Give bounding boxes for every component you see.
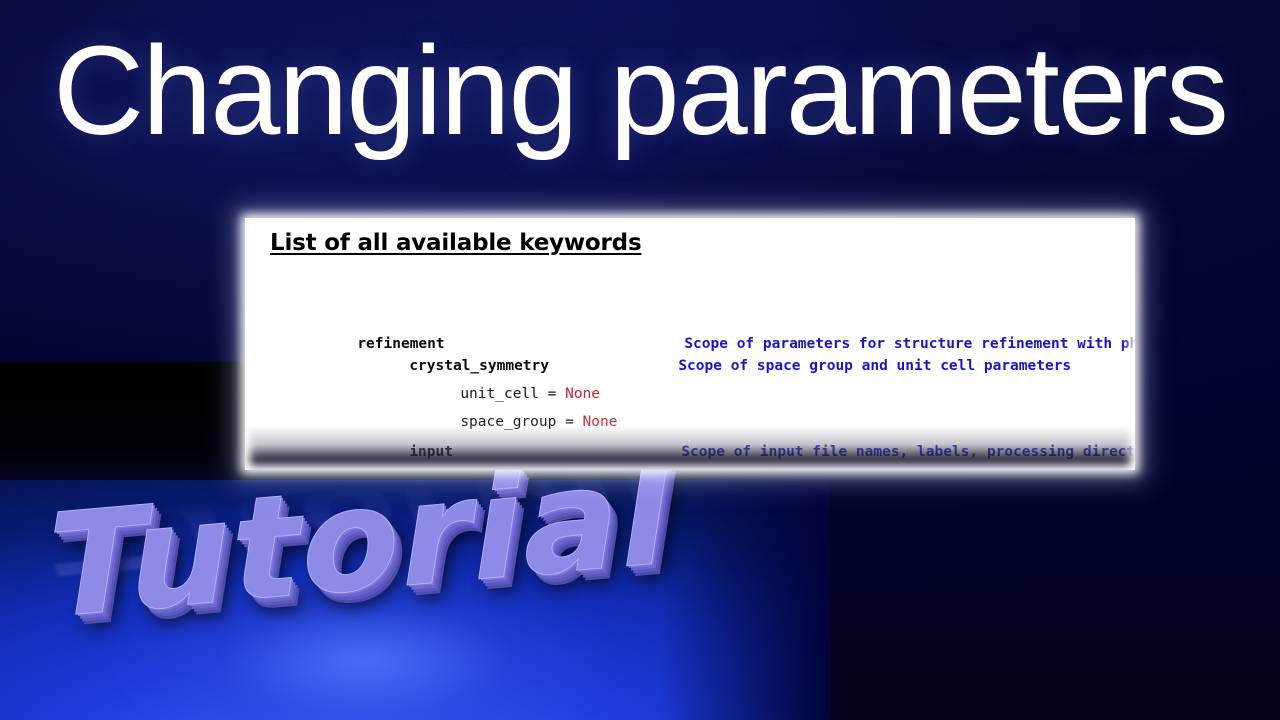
code-desc-crystal-symmetry: Scope of space group and unit cell param…: [591, 344, 1071, 388]
keyword-panel-inner: List of all available keywords refinemen…: [245, 218, 1135, 470]
param-space-group: space_group: [460, 414, 556, 430]
assign-space-group: =: [556, 414, 582, 430]
code-line-symmetry-safety-check: symmetry_safety_check = *error warning: [373, 452, 792, 470]
slide-root: Changing parameters Tutorial Tutorial Li…: [0, 0, 1280, 720]
value-space-group: None: [583, 414, 618, 430]
keyword-panel: List of all available keywords refinemen…: [245, 218, 1135, 470]
keyword-panel-heading: List of all available keywords: [270, 230, 641, 256]
description-crystal-symmetry: Scope of space group and unit cell param…: [678, 358, 1071, 374]
keyword-code-block: refinement Scope of parameters for struc…: [245, 274, 1135, 470]
slide-title: Changing parameters: [0, 24, 1280, 158]
